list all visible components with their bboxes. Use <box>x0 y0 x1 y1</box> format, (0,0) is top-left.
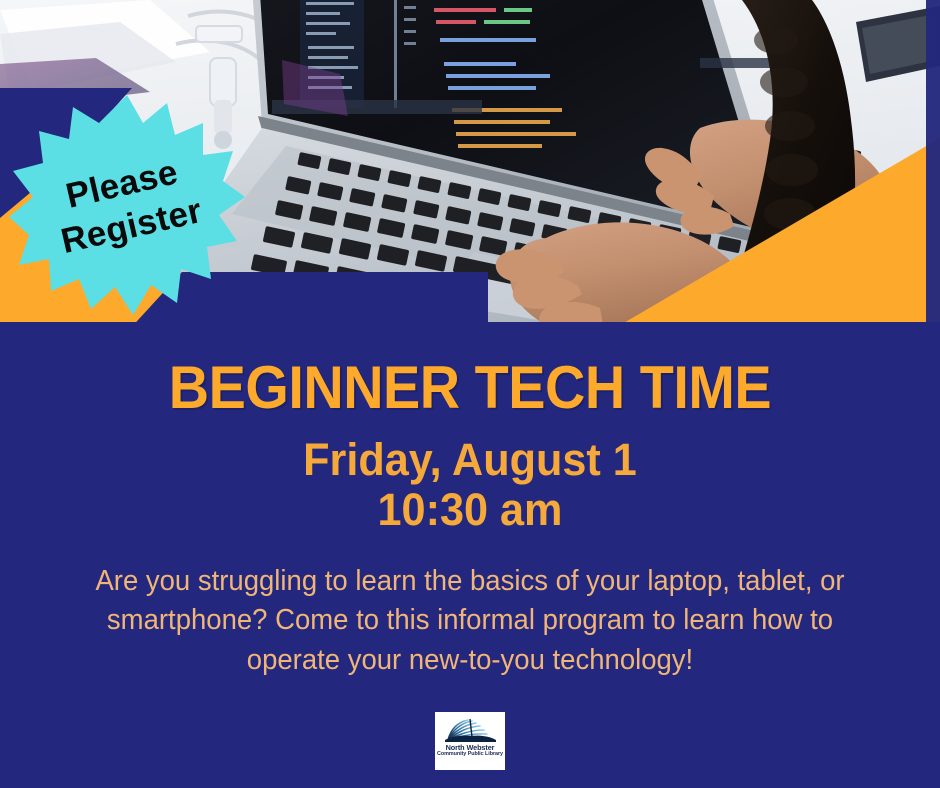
logo-subtitle: Community Public Library <box>437 752 503 758</box>
open-book-fanned-pages-icon <box>441 715 499 743</box>
please-register-badge[interactable]: Please Register <box>9 93 245 319</box>
logo-container: North Webster Community Public Library <box>0 712 940 770</box>
event-date: Friday, August 1 <box>19 436 921 483</box>
page-title: BEGINNER TECH TIME <box>33 358 907 418</box>
event-description: Are you struggling to learn the basics o… <box>89 562 851 681</box>
flyer-content: BEGINNER TECH TIME Friday, August 1 10:3… <box>0 331 940 680</box>
event-time: 10:30 am <box>19 486 921 533</box>
flyer-canvas: Please Register BEGINNER TECH TIME Frida… <box>0 0 940 788</box>
navy-edge-right <box>926 0 940 331</box>
library-logo: North Webster Community Public Library <box>435 712 505 770</box>
